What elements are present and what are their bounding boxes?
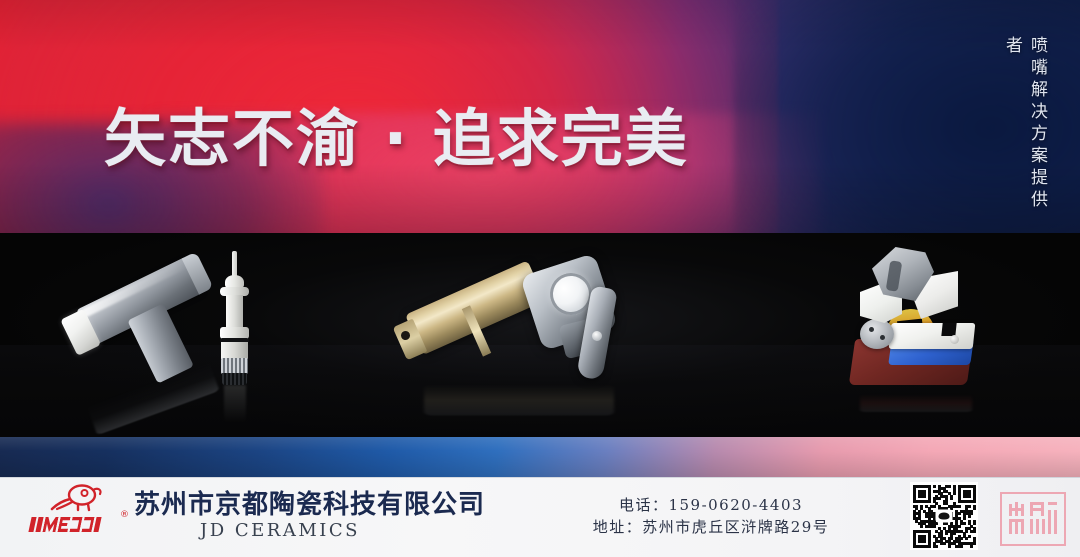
ceramic-assembly-screw: [950, 335, 959, 344]
product-brass-spray-gun: [414, 259, 644, 419]
vertical-tagline: 喷嘴解决方案提供者: [1000, 36, 1050, 233]
logo-wordmark: [30, 512, 118, 532]
ceramic-assembly-grey-disc: [860, 319, 894, 349]
valve-pin-shaft: [226, 295, 243, 329]
company-logo[interactable]: ®: [30, 484, 130, 546]
qr-code[interactable]: [910, 482, 978, 550]
valve-pin-base: [222, 373, 247, 385]
ceramic-assembly-hole-a: [869, 327, 874, 332]
spray-gun-reflection: [424, 385, 614, 416]
company-name-cn: 苏州市京都陶瓷科技有限公司: [134, 484, 485, 521]
contact-address: 地址：苏州市虎丘区浒牌路29号: [566, 516, 856, 538]
qr-center-logo-icon: [936, 510, 953, 523]
ceramic-assembly-reflection: [860, 394, 972, 412]
elephant-logo-icon: [48, 484, 110, 514]
gradient-divider-bar: [0, 437, 1080, 477]
ceramic-assembly-white-lower-plate: [889, 323, 976, 349]
valve-pin-knurled-sleeve: [221, 358, 248, 374]
valve-pin-midsection: [221, 342, 248, 359]
seal-stamp: [1000, 492, 1066, 546]
divider-shading: [0, 437, 1080, 477]
valve-pin-needle: [232, 251, 237, 277]
product-multi-color-ceramic-assembly: [838, 247, 1018, 419]
hero-banner: 矢志不渝 · 追求完美 喷嘴解决方案提供者: [0, 0, 1080, 233]
contact-block: 电话：159-0620-4403 地址：苏州市虎丘区浒牌路29号: [566, 494, 856, 538]
hero-headline: 矢志不渝 · 追求完美: [104, 88, 689, 178]
product-ceramic-valve-pin: [58, 241, 328, 431]
qr-code-canvas: [913, 485, 975, 547]
poster-root: 矢志不渝 · 追求完美 喷嘴解决方案提供者: [0, 0, 1080, 557]
valve-pin-body: [214, 251, 256, 391]
seal-glyphs: [1009, 502, 1057, 536]
registered-trademark-icon: ®: [120, 510, 129, 520]
ceramic-assembly-hole-b: [880, 335, 885, 340]
product-photo-strip: [0, 233, 1080, 437]
company-name-en: JD CERAMICS: [200, 520, 360, 541]
contact-phone: 电话：159-0620-4403: [566, 494, 856, 516]
valve-pin-reflection: [224, 385, 246, 423]
